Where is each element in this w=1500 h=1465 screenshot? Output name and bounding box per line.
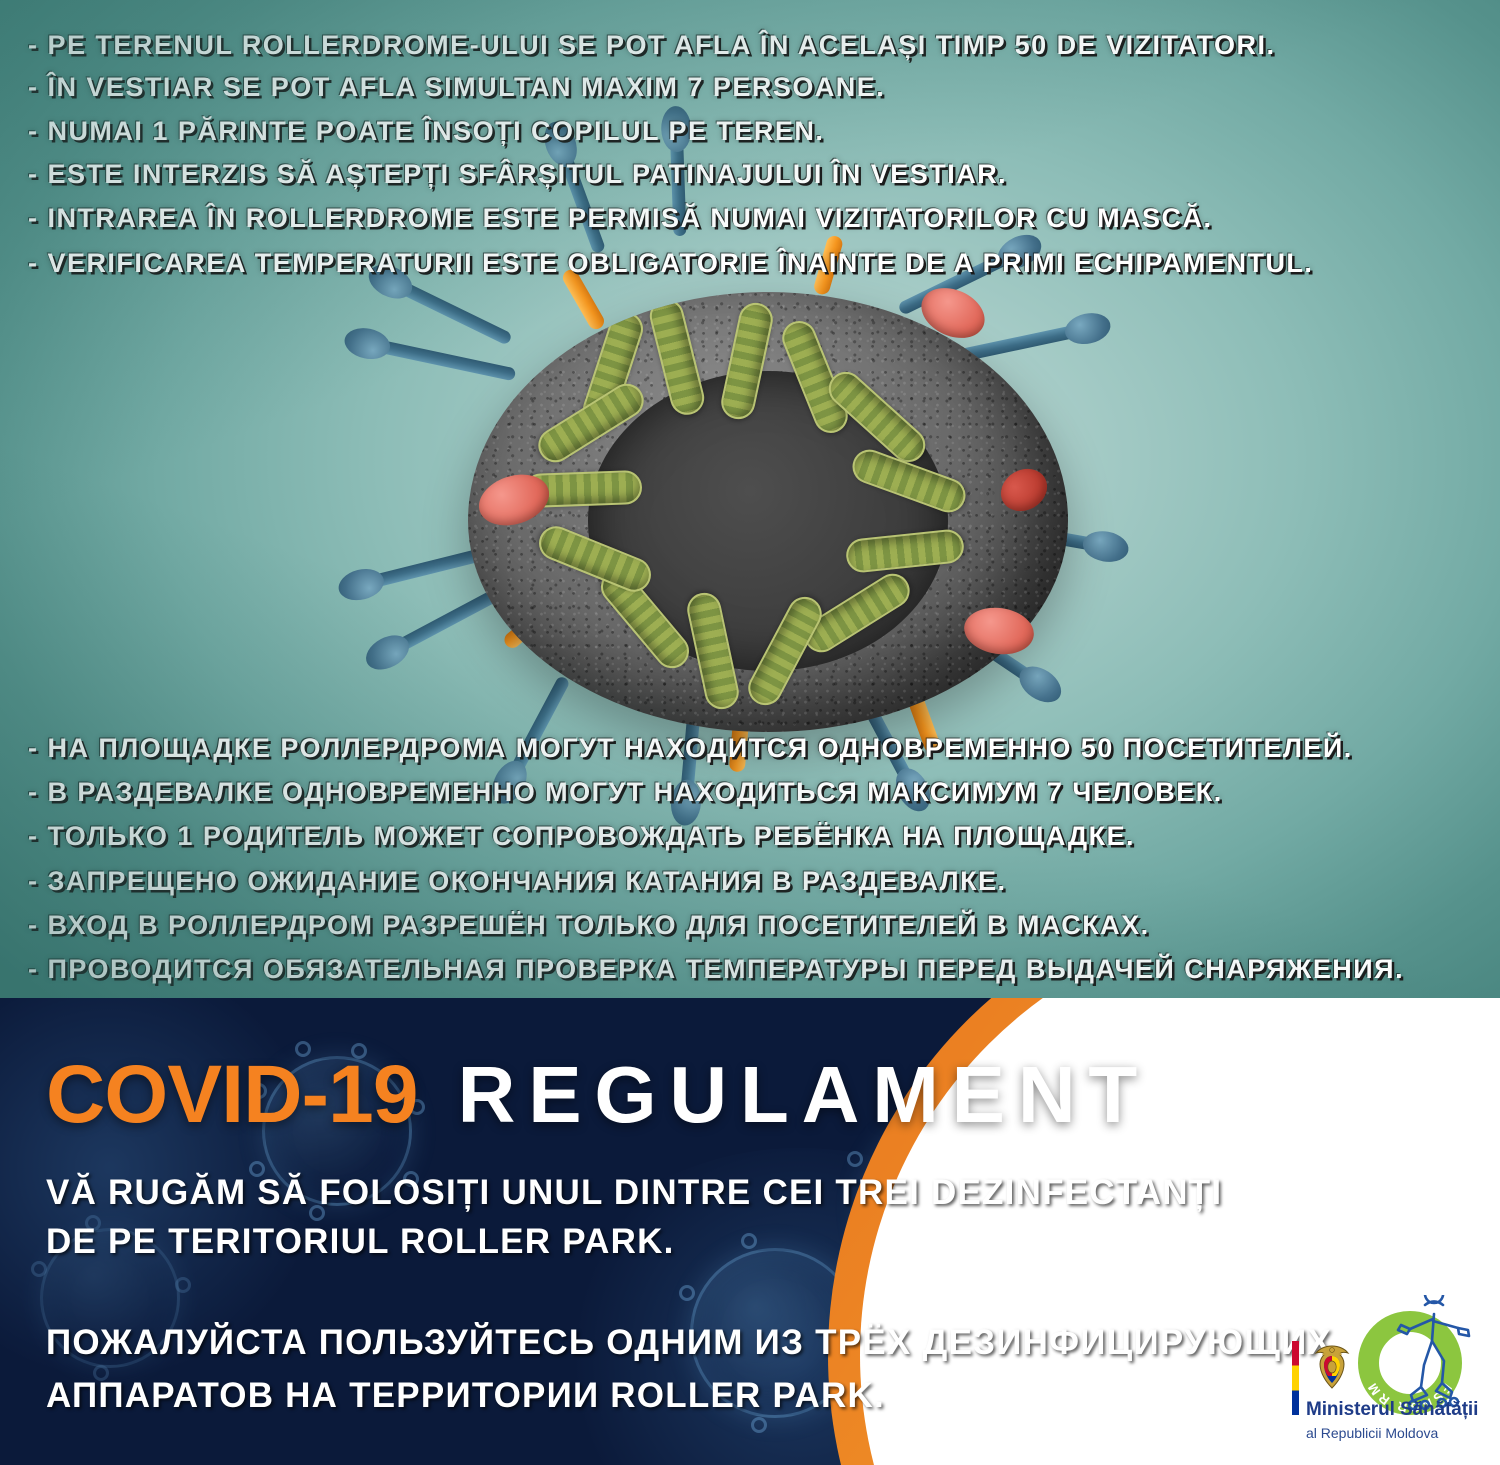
rule-ru-1: - НА ПЛОЩАДКЕ РОЛЛЕРДРОМА МОГУТ НАХОДИТС… [28, 733, 1353, 764]
banner-panel: COVID-19 REGULAMENT VĂ RUGĂM SĂ FOLOSIȚI… [0, 998, 1500, 1465]
moldova-flag-bar-icon [1292, 1341, 1299, 1415]
ministry-name: Ministerul Sănătății [1306, 1399, 1478, 1421]
ministry-subtitle: al Republicii Moldova [1306, 1425, 1438, 1441]
headline-regulament: REGULAMENT [458, 1049, 1150, 1141]
message-ru-line-2: АППАРАТОВ НА ТЕРРИТОРИИ ROLLER PARK. [46, 1376, 885, 1416]
rule-ru-3: - ТОЛЬКО 1 РОДИТЕЛЬ МОЖЕТ СОПРОВОЖДАТЬ Р… [28, 821, 1135, 852]
headline-covid: COVID-19 [46, 1048, 418, 1142]
rule-ru-2: - В РАЗДЕВАЛКЕ ОДНОВРЕМЕННО МОГУТ НАХОДИ… [28, 777, 1223, 808]
message-ru-line-1: ПОЖАЛУЙСТА ПОЛЬЗУЙТЕСЬ ОДНИМ ИЗ ТРЁХ ДЕЗ… [46, 1323, 1332, 1363]
rule-ro-2: - ÎN VESTIAR SE POT AFLA SIMULTAN MAXIM … [28, 72, 885, 103]
virus-envelope [468, 292, 1068, 732]
rule-ru-4: - ЗАПРЕЩЕНО ОЖИДАНИЕ ОКОНЧАНИЯ КАТАНИЯ В… [28, 866, 1007, 897]
banner-headline: COVID-19 REGULAMENT [46, 1048, 1150, 1142]
message-ro-line-1: VĂ RUGĂM SĂ FOLOSIȚI UNUL DINTRE CEI TRE… [46, 1173, 1222, 1213]
rule-ru-6: - ПРОВОДИТСЯ ОБЯЗАТЕЛЬНАЯ ПРОВЕРКА ТЕМПЕ… [28, 954, 1404, 985]
rule-ro-6: - VERIFICAREA TEMPERATURII ESTE OBLIGATO… [28, 248, 1313, 279]
rule-ro-1: - PE TERENUL ROLLERDROME-ULUI SE POT AFL… [28, 30, 1275, 61]
rule-ro-4: - ESTE INTERZIS SĂ AȘTEPȚI SFÂRȘITUL PAT… [28, 159, 1007, 190]
rules-panel: - PE TERENUL ROLLERDROME-ULUI SE POT AFL… [0, 0, 1500, 998]
moldova-coat-of-arms-icon [1310, 1343, 1354, 1391]
message-ro-line-2: DE PE TERITORIUL ROLLER PARK. [46, 1222, 675, 1262]
rule-ru-5: - ВХОД В РОЛЛЕРДРОМ РАЗРЕШЁН ТОЛЬКО ДЛЯ … [28, 910, 1150, 941]
coronavirus-illustration [300, 270, 1240, 750]
ministry-logo: FSNSR RM [1284, 1293, 1480, 1443]
poster-root: - PE TERENUL ROLLERDROME-ULUI SE POT AFL… [0, 0, 1500, 1465]
rule-ro-5: - INTRAREA ÎN ROLLERDROME ESTE PERMISĂ N… [28, 203, 1212, 234]
virus-rna-strand [646, 296, 708, 419]
rule-ro-3: - NUMAI 1 PĂRINTE POATE ÎNSOȚI COPILUL P… [28, 116, 824, 147]
